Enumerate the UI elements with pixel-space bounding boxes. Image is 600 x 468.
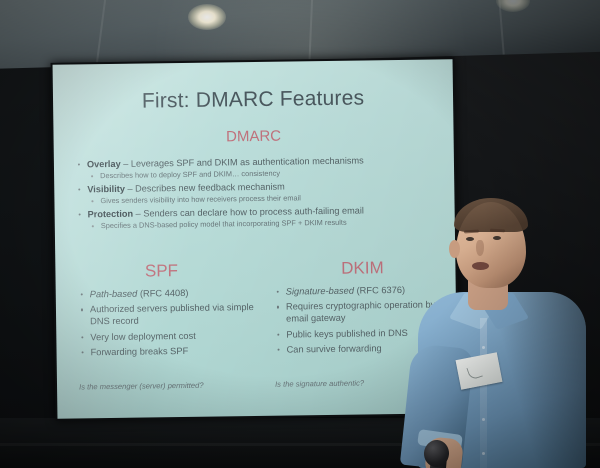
section-heading-dmarc: DMARC [53, 125, 453, 148]
spf-item-0: Path-based (RFC 4408) [78, 286, 256, 301]
presenter-hair [454, 198, 528, 232]
dkim-item-0-emphasis: Signature-based [286, 286, 354, 297]
spf-footer-question: Is the messenger (server) permitted? [79, 380, 269, 392]
dmarc-bullet-list: Overlay – Leverages SPF and DKIM as auth… [76, 153, 447, 233]
spf-item-2: Very low deployment cost [78, 329, 256, 344]
presenter-mouth [472, 262, 489, 270]
section-heading-spf: SPF [81, 260, 241, 282]
presentation-photo: First: DMARC Features DMARC Overlay – Le… [0, 0, 600, 468]
presenter-eye-right [493, 236, 501, 240]
presenter-shirt-placket [480, 318, 487, 468]
presenter-ear [449, 240, 460, 258]
badge-mark-icon [466, 364, 483, 381]
bullet-overlay-text: – Leverages SPF and DKIM as authenticati… [121, 155, 364, 168]
spf-item-0-text: (RFC 4408) [137, 288, 188, 299]
projection-screen: First: DMARC Features DMARC Overlay – Le… [53, 59, 458, 419]
dkim-item-0-text: (RFC 6376) [354, 285, 405, 296]
ceiling-seam [96, 0, 107, 66]
spf-item-3: Forwarding breaks SPF [78, 344, 256, 359]
ceiling-seam [309, 0, 313, 60]
bullet-visibility-label: Visibility [87, 184, 125, 195]
presenter-nose [476, 240, 484, 256]
slide: First: DMARC Features DMARC Overlay – Le… [53, 59, 458, 419]
spf-item-1: Authorized servers published via simple … [78, 301, 256, 328]
ceiling-light-center-icon [188, 4, 226, 30]
presenter-eye-left [466, 237, 474, 241]
bullet-visibility-text: – Describes new feedback mechanism [125, 181, 285, 193]
slide-title: First: DMARC Features [53, 85, 453, 115]
spf-item-0-emphasis: Path-based [90, 289, 138, 300]
spf-column: Path-based (RFC 4408) Authorized servers… [78, 286, 257, 361]
spf-bullet-list: Path-based (RFC 4408) Authorized servers… [78, 286, 257, 358]
bullet-overlay-label: Overlay [87, 159, 121, 169]
bullet-protection-label: Protection [88, 208, 134, 219]
bullet-protection-text: – Senders can declare how to process aut… [133, 205, 364, 218]
presenter [404, 196, 600, 468]
